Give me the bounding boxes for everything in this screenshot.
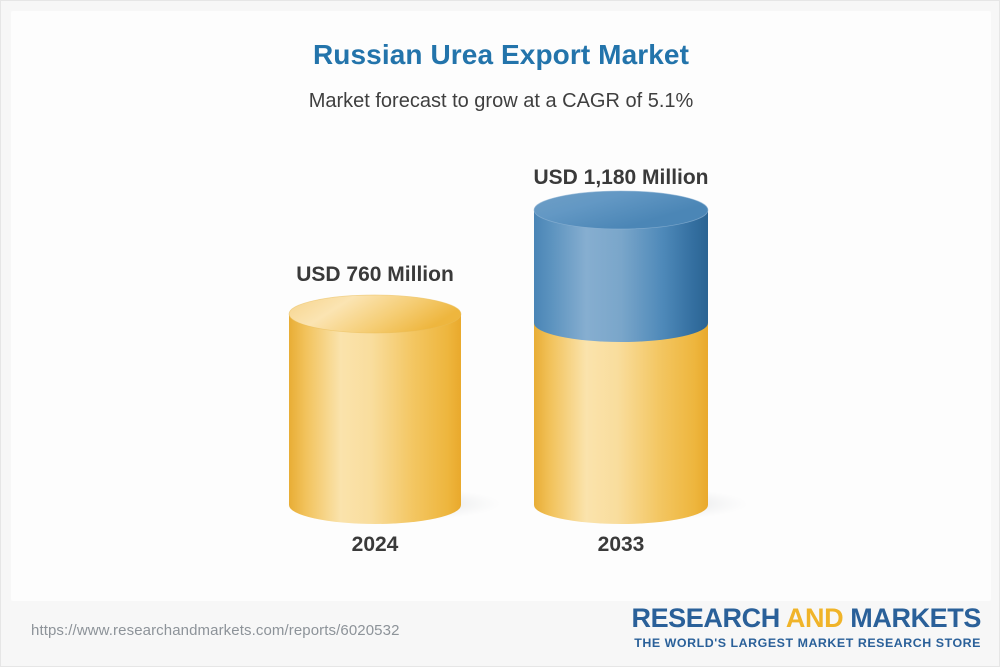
category-label-2033: 2033 [461,533,781,557]
cylinder-graphics [1,1,1000,667]
logo-markets-text: MARKETS [843,603,981,633]
brand-logo[interactable]: RESEARCH AND MARKETS THE WORLD'S LARGEST… [631,605,981,649]
logo-and-text: AND [786,603,843,633]
bar-value-label-2033: USD 1,180 Million [461,166,781,190]
bar-value-label-2024: USD 760 Million [215,263,535,287]
bar-2033[interactable] [528,191,748,524]
infographic-root: Russian Urea Export Market Market foreca… [0,0,1000,667]
logo-wordmark: RESEARCH AND MARKETS [631,605,981,632]
bar-2024[interactable] [285,295,501,524]
logo-research-text: RESEARCH [631,603,785,633]
bars-layer: USD 760 Million USD 1,180 Million 2024 2… [1,1,1000,667]
source-url[interactable]: https://www.researchandmarkets.com/repor… [31,622,400,639]
logo-tagline: THE WORLD'S LARGEST MARKET RESEARCH STOR… [631,637,981,649]
